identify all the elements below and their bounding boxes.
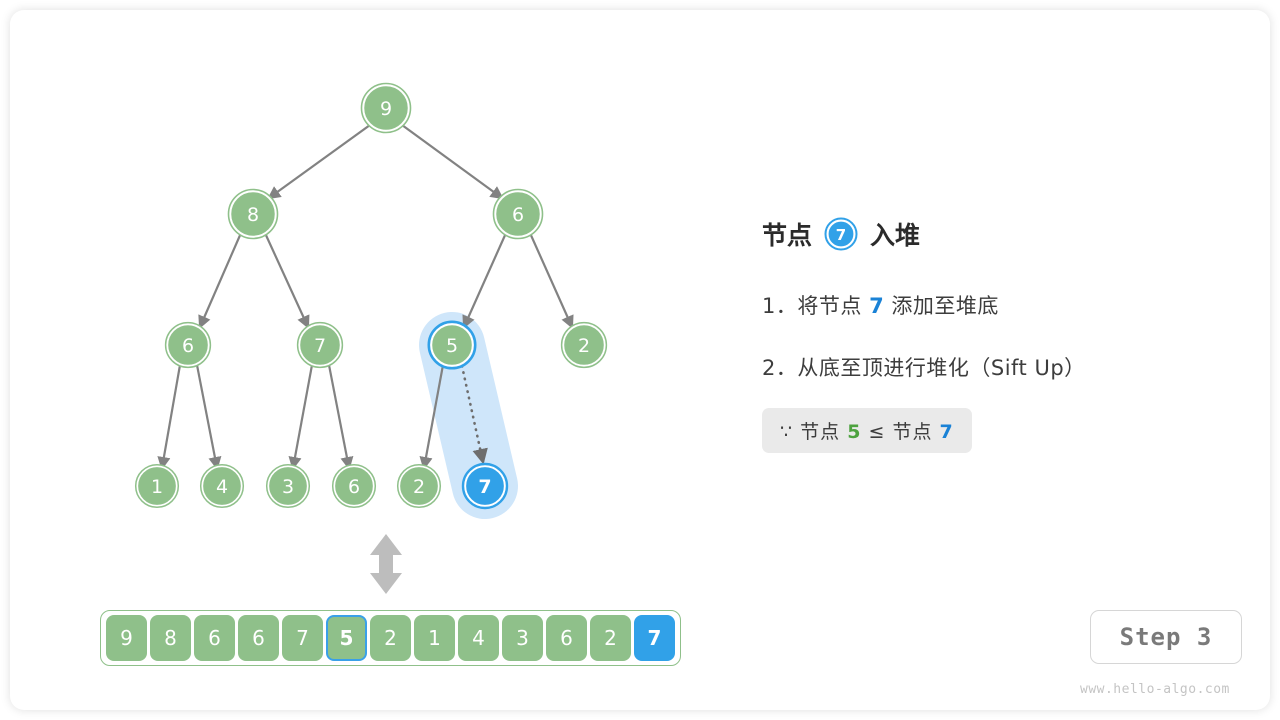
- tree-node-label: 6: [182, 335, 194, 357]
- array-cell[interactable]: 3: [502, 615, 543, 661]
- edge-8-6: [200, 233, 241, 327]
- step-1-suffix: 添加至堆底: [891, 294, 999, 318]
- heap-array: 9 8 6 6 7 5 2 1 4 3 6 2 7: [100, 610, 681, 666]
- tree-node-label: 6: [512, 204, 524, 226]
- tree-node-2-leaf[interactable]: 2: [398, 465, 441, 508]
- tree-node-5-parent[interactable]: 5: [429, 322, 475, 368]
- array-cell[interactable]: 1: [414, 615, 455, 661]
- tree-node-1[interactable]: 1: [136, 465, 179, 508]
- tree-node-9[interactable]: 9: [362, 84, 411, 133]
- tree-node-label: 2: [578, 335, 590, 357]
- explanation-panel: 节点 7 入堆 1．将节点 7 添加至堆底 2．从底至顶进行堆化（Sift Up…: [762, 210, 1232, 453]
- tree-node-7-l2[interactable]: 7: [298, 323, 343, 368]
- reason-node-b-value: 7: [940, 421, 954, 443]
- watermark: www.hello-algo.com: [1080, 682, 1230, 697]
- tree-node-7-inserted[interactable]: 7: [463, 464, 507, 508]
- reason-box: ∵ 节点 5 ≤ 节点 7: [762, 408, 972, 453]
- diagram-card: 9 8 6 6 7 5 2: [10, 10, 1270, 710]
- edge-7-6b: [329, 365, 349, 468]
- tree-node-6-right[interactable]: 6: [494, 190, 543, 239]
- edge-6-1: [162, 365, 180, 468]
- edge-7-3: [293, 365, 312, 468]
- array-cell[interactable]: 6: [194, 615, 235, 661]
- title-node-badge-icon: 7: [822, 215, 860, 253]
- tree-node-label: 3: [282, 476, 294, 498]
- edge-6-4: [197, 365, 217, 468]
- reason-node-a-label: 节点: [800, 421, 840, 443]
- edge-6-2: [530, 233, 572, 327]
- tree-node-label: 8: [247, 204, 259, 226]
- tree-array-link-arrow: [370, 534, 402, 594]
- array-cell[interactable]: 2: [590, 615, 631, 661]
- array-cell[interactable]: 7: [282, 615, 323, 661]
- tree-node-3[interactable]: 3: [267, 465, 310, 508]
- panel-title: 节点 7 入堆: [762, 210, 1232, 258]
- array-cell[interactable]: 8: [150, 615, 191, 661]
- edge-9-6: [402, 125, 502, 198]
- array-cell[interactable]: 6: [238, 615, 279, 661]
- tree-node-label: 1: [151, 476, 163, 498]
- tree-node-2-l2[interactable]: 2: [562, 323, 607, 368]
- tree-node-4[interactable]: 4: [201, 465, 244, 508]
- array-cell[interactable]: 9: [106, 615, 147, 661]
- edge-9-8: [269, 125, 370, 198]
- array-cell-inserted[interactable]: 7: [634, 615, 675, 661]
- array-cell[interactable]: 6: [546, 615, 587, 661]
- panel-title-suffix: 入堆: [870, 216, 920, 252]
- tree-node-label: 7: [478, 476, 491, 498]
- tree-node-label: 6: [348, 476, 360, 498]
- edge-8-7: [265, 233, 308, 327]
- tree-node-label: 4: [216, 476, 228, 498]
- panel-title-prefix: 节点: [762, 216, 812, 252]
- step-1-prefix: 1．将节点: [762, 294, 862, 318]
- step-2-line: 2．从底至顶进行堆化（Sift Up）: [762, 352, 1232, 382]
- step-badge: Step 3: [1090, 610, 1242, 664]
- array-cell[interactable]: 2: [370, 615, 411, 661]
- binary-heap-tree: 9 8 6 6 7 5 2: [10, 10, 750, 610]
- tree-node-6-l1[interactable]: 6: [166, 323, 211, 368]
- because-symbol: ∵: [780, 421, 793, 443]
- reason-node-a-value: 5: [847, 421, 861, 443]
- tree-node-label: 9: [380, 98, 392, 120]
- reason-operator: ≤: [868, 421, 885, 443]
- tree-node-label: 7: [314, 335, 326, 357]
- tree-edges: [162, 125, 572, 468]
- array-cell[interactable]: 4: [458, 615, 499, 661]
- edge-6-5: [464, 233, 506, 327]
- step-1-line: 1．将节点 7 添加至堆底: [762, 290, 1232, 320]
- step-1-value: 7: [869, 294, 884, 318]
- array-cell-highlighted[interactable]: 5: [326, 615, 367, 661]
- tree-node-6-leaf[interactable]: 6: [333, 465, 376, 508]
- tree-node-label: 5: [446, 335, 458, 357]
- tree-node-8[interactable]: 8: [229, 190, 278, 239]
- title-node-badge-label: 7: [836, 226, 846, 244]
- reason-node-b-label: 节点: [892, 421, 932, 443]
- tree-node-label: 2: [413, 476, 425, 498]
